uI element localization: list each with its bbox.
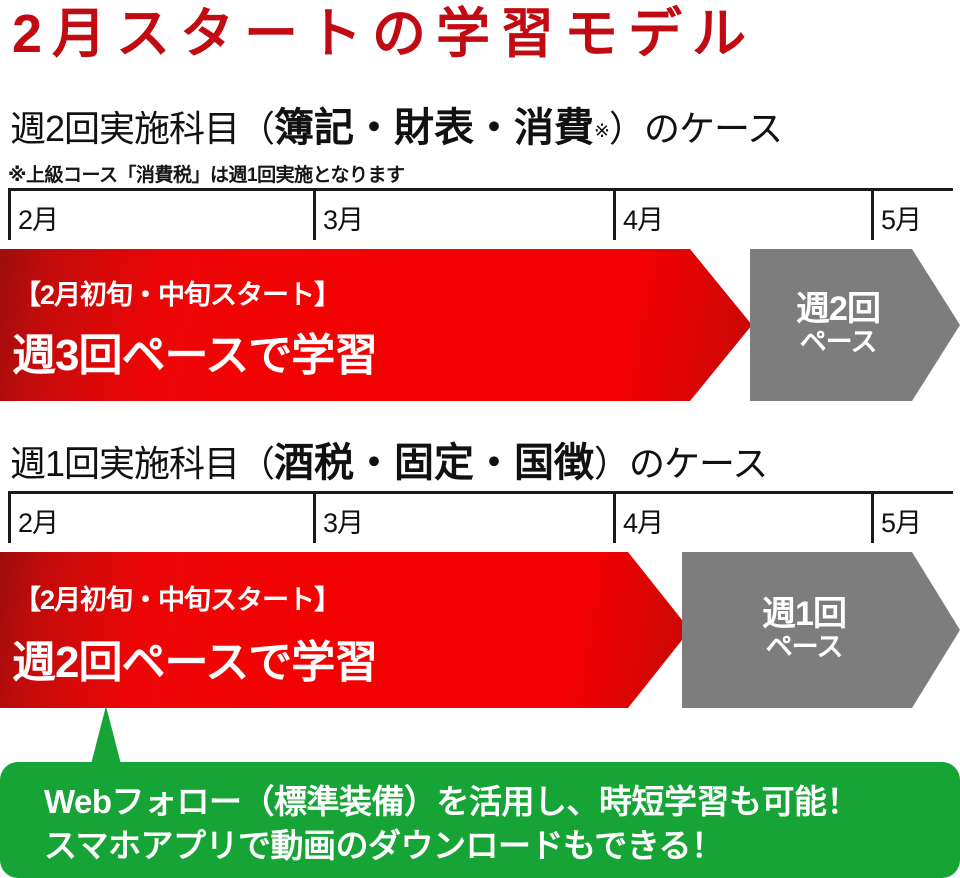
timeline-tick-feb [8,491,11,543]
section-1-bars: 【2月初旬・中旬スタート】 週3回ペースで学習 週2回 ペース [0,249,960,401]
page-title: 2月スタートの学習モデル [12,6,952,63]
timeline-tick-feb [8,188,11,240]
section-1-heading-prefix: 週2回実施科目（ [10,108,274,149]
section-1-heading-suffix: ）のケース [609,108,782,149]
timeline-label-apr: 4月 [623,198,663,237]
timeline-label-mar: 3月 [323,198,363,237]
section-2-red-sublabel: 【2月初旬・中旬スタート】 [14,578,340,617]
timeline-tick-mar [313,188,316,240]
callout-text: Webフォロー（標準装備）を活用し、時短学習も可能！ スマホアプリで動画のダウン… [44,780,859,867]
timeline-tick-may [871,491,874,543]
section-2-red-mainlabel: 週2回ペースで学習 [12,626,377,690]
section-2-bars: 【2月初旬・中旬スタート】 週2回ペースで学習 週1回 ペース [0,552,960,708]
section-1-gray-phase-arrow: 週2回 ペース [750,249,960,401]
timeline-rule [8,491,953,494]
timeline-label-mar: 3月 [323,501,363,540]
timeline-rule [8,188,953,191]
timeline-tick-may [871,188,874,240]
callout-line-1: Webフォロー（標準装備）を活用し、時短学習も可能！ [44,780,859,824]
timeline-label-may: 5月 [881,198,921,237]
section-1-heading-mark: ※ [594,121,609,142]
web-follow-callout: Webフォロー（標準装備）を活用し、時短学習も可能！ スマホアプリで動画のダウン… [0,762,960,878]
callout-line-2: スマホアプリで動画のダウンロードもできる！ [44,824,859,868]
section-1-red-mainlabel: 週3回ペースで学習 [12,319,377,383]
section-1-red-sublabel: 【2月初旬・中旬スタート】 [14,273,340,312]
section-2-gray-phase-arrow: 週1回 ペース [682,552,960,708]
timeline-label-may: 5月 [881,501,921,540]
section-2-heading-suffix: ）のケース [594,443,767,484]
section-1-heading: 週2回実施科目（簿記・財表・消費※）のケース [10,108,782,148]
section-1-gray-label-line2: ペース [800,328,911,358]
section-2-gray-label-line1: 週1回 [762,597,880,633]
section-2-timeline: 2月 3月 4月 5月 [8,491,953,549]
infographic-page: 2月スタートの学習モデル 週2回実施科目（簿記・財表・消費※）のケース ※上級コ… [0,0,960,878]
timeline-label-feb: 2月 [18,501,58,540]
section-2-heading-prefix: 週1回実施科目（ [10,443,274,484]
section-1-heading-subjects: 簿記・財表・消費 [274,106,594,150]
timeline-label-apr: 4月 [623,501,663,540]
section-1-red-phase-arrow: 【2月初旬・中旬スタート】 週3回ペースで学習 [0,249,752,401]
section-1-note: ※上級コース「消費税」は週1回実施となります [8,160,405,187]
section-2-heading: 週1回実施科目（酒税・固定・国徴）のケース [10,443,767,483]
timeline-tick-apr [613,491,616,543]
section-1-gray-label-line1: 週2回 [796,292,914,328]
section-2-red-phase-arrow: 【2月初旬・中旬スタート】 週2回ペースで学習 [0,552,690,708]
section-2-heading-subjects: 酒税・固定・国徴 [274,441,594,485]
timeline-tick-apr [613,188,616,240]
timeline-tick-mar [313,491,316,543]
timeline-label-feb: 2月 [18,198,58,237]
callout-pointer-icon [90,706,122,768]
section-1-timeline: 2月 3月 4月 5月 [8,188,953,246]
section-2-gray-label-line2: ペース [766,633,877,663]
